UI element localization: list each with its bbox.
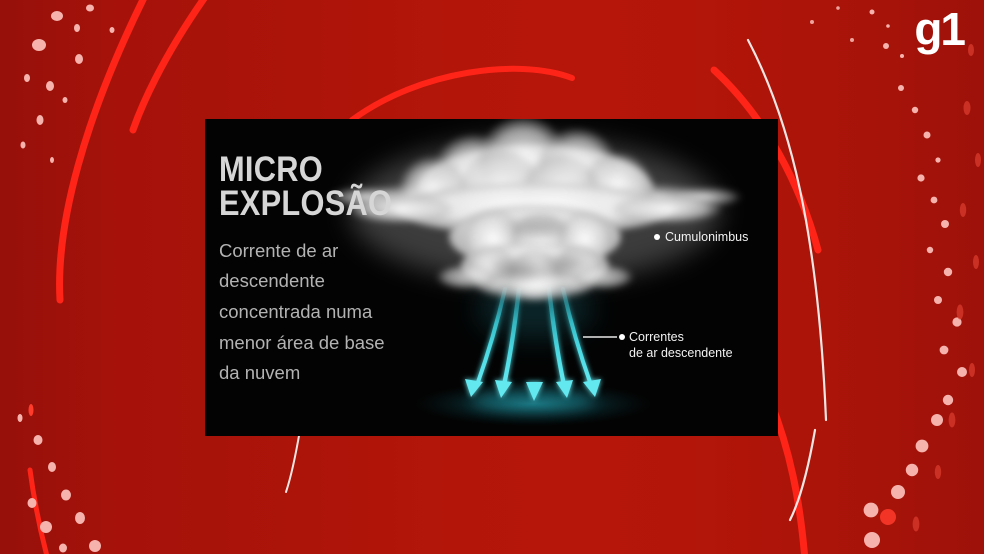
- speckle-red-accent-right: [880, 509, 896, 525]
- speckle-cluster-top-right: [810, 6, 854, 42]
- callout-label-cumulonimbus: Cumulonimbus: [665, 229, 748, 245]
- callout-label-correntes: Correntes de ar descendente: [629, 329, 733, 361]
- infographic-canvas: g1: [0, 0, 984, 554]
- infographic-panel: MICRO EXPLOSÃO Corrente de ar descendent…: [205, 119, 778, 436]
- red-arc-left-inner: [133, 0, 210, 130]
- panel-description: Corrente de ar descendente concentrada n…: [219, 236, 449, 390]
- cloud-base: [437, 205, 633, 301]
- white-arc-bottom-right: [790, 430, 815, 520]
- white-arc-bottom-center: [286, 430, 300, 492]
- speckle-column-right: [864, 10, 967, 549]
- speckle-red-accent-left: [29, 404, 34, 416]
- speckle-crescents-right: [913, 44, 981, 532]
- callout-dot-correntes: [619, 334, 625, 340]
- panel-text-block: MICRO EXPLOSÃO Corrente de ar descendent…: [219, 153, 449, 389]
- callout-dot-cumulonimbus: [654, 234, 660, 240]
- page-title: MICRO EXPLOSÃO: [219, 153, 421, 222]
- red-arc-top: [352, 69, 572, 120]
- speckle-cluster-bottom-left: [18, 414, 102, 553]
- red-arc-bottom-left: [30, 470, 48, 554]
- speckle-cluster-top-left: [21, 5, 115, 164]
- red-arc-left-outer: [60, 0, 158, 300]
- g1-logo: g1: [914, 6, 964, 52]
